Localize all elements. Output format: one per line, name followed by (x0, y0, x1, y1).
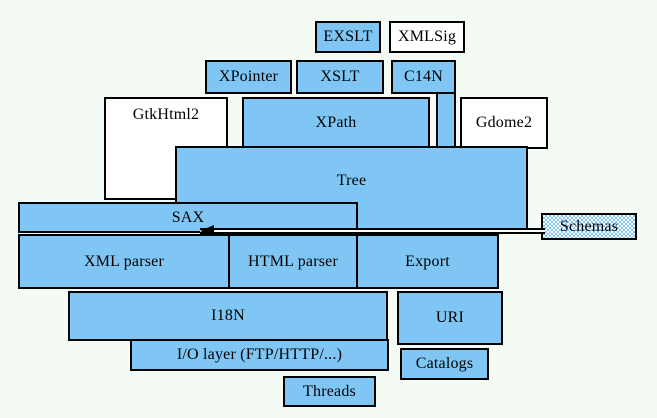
box-xpointer-label: XPointer (219, 69, 278, 85)
box-gtkhtml2-label: GtkHtml2 (133, 107, 200, 123)
box-xmlsig[interactable]: XMLSig (389, 21, 465, 53)
box-xpath[interactable]: XPath (242, 97, 430, 149)
box-tree-label: Tree (337, 173, 367, 189)
box-catalogs-label: Catalogs (416, 356, 474, 372)
box-c14n[interactable]: C14N (391, 60, 456, 94)
box-html-parser-label: HTML parser (248, 254, 338, 270)
box-gdome2-label: Gdome2 (476, 115, 532, 131)
box-i18n[interactable]: I18N (68, 291, 388, 341)
box-xslt-label: XSLT (320, 69, 359, 85)
box-gdome2[interactable]: Gdome2 (460, 97, 548, 149)
box-c14n-label: C14N (404, 69, 443, 85)
box-schemas[interactable]: Schemas (541, 213, 637, 240)
box-threads-label: Threads (303, 384, 356, 400)
box-schemas-label: Schemas (560, 219, 618, 235)
box-html-parser[interactable]: HTML parser (228, 234, 358, 289)
box-uri-label: URI (436, 310, 464, 326)
box-sax-label: SAX (172, 210, 205, 226)
box-io-layer[interactable]: I/O layer (FTP/HTTP/...) (130, 339, 389, 371)
box-catalogs[interactable]: Catalogs (400, 348, 489, 380)
box-uri[interactable]: URI (397, 291, 503, 345)
box-io-layer-label: I/O layer (FTP/HTTP/...) (177, 347, 342, 363)
box-exslt[interactable]: EXSLT (315, 21, 381, 53)
box-exslt-label: EXSLT (323, 29, 372, 45)
box-threads[interactable]: Threads (283, 376, 376, 407)
architecture-diagram: EXSLT XMLSig XPointer XSLT C14N GtkHtml2… (0, 0, 657, 418)
box-xml-parser-label: XML parser (84, 254, 164, 270)
box-export[interactable]: Export (356, 234, 499, 289)
box-xmlsig-label: XMLSig (398, 29, 456, 45)
box-xml-parser[interactable]: XML parser (18, 234, 230, 289)
box-xpointer[interactable]: XPointer (205, 60, 292, 94)
box-xslt[interactable]: XSLT (296, 60, 384, 94)
box-i18n-label: I18N (211, 308, 245, 324)
box-xpath-label: XPath (316, 115, 357, 131)
box-export-label: Export (405, 254, 450, 270)
